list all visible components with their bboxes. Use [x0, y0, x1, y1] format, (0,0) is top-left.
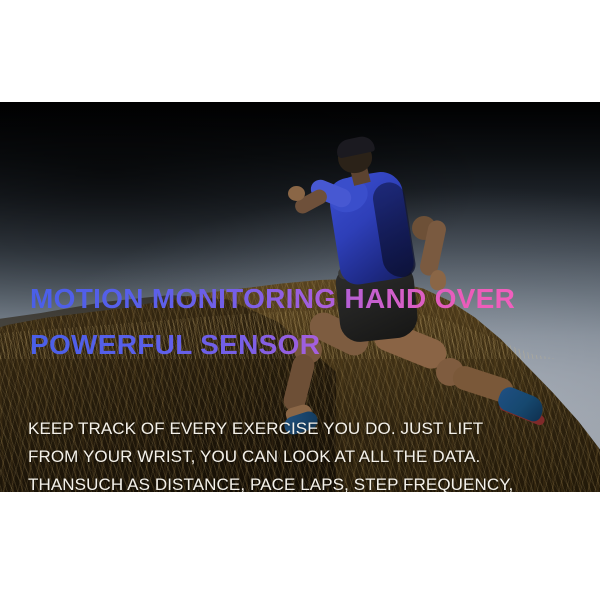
body-line-1: KEEP TRACK OF EVERY EXERCISE YOU DO. JUS…	[28, 415, 573, 443]
runner-left-hand	[288, 186, 305, 201]
body-line-3: THANSUCH AS DISTANCE, PACE LAPS, STEP FR…	[28, 471, 573, 492]
headline-line-2: POWERFUL SENSOR	[30, 322, 570, 368]
hero-banner: MOTION MONITORING HAND OVER POWERFUL SEN…	[0, 102, 600, 492]
page-canvas: MOTION MONITORING HAND OVER POWERFUL SEN…	[0, 0, 600, 600]
banner-headline: MOTION MONITORING HAND OVER POWERFUL SEN…	[30, 276, 570, 368]
body-line-2: FROM YOUR WRIST, YOU CAN LOOK AT ALL THE…	[28, 443, 573, 471]
banner-body-copy: KEEP TRACK OF EVERY EXERCISE YOU DO. JUS…	[28, 415, 573, 492]
headline-line-1: MOTION MONITORING HAND OVER	[30, 276, 570, 322]
